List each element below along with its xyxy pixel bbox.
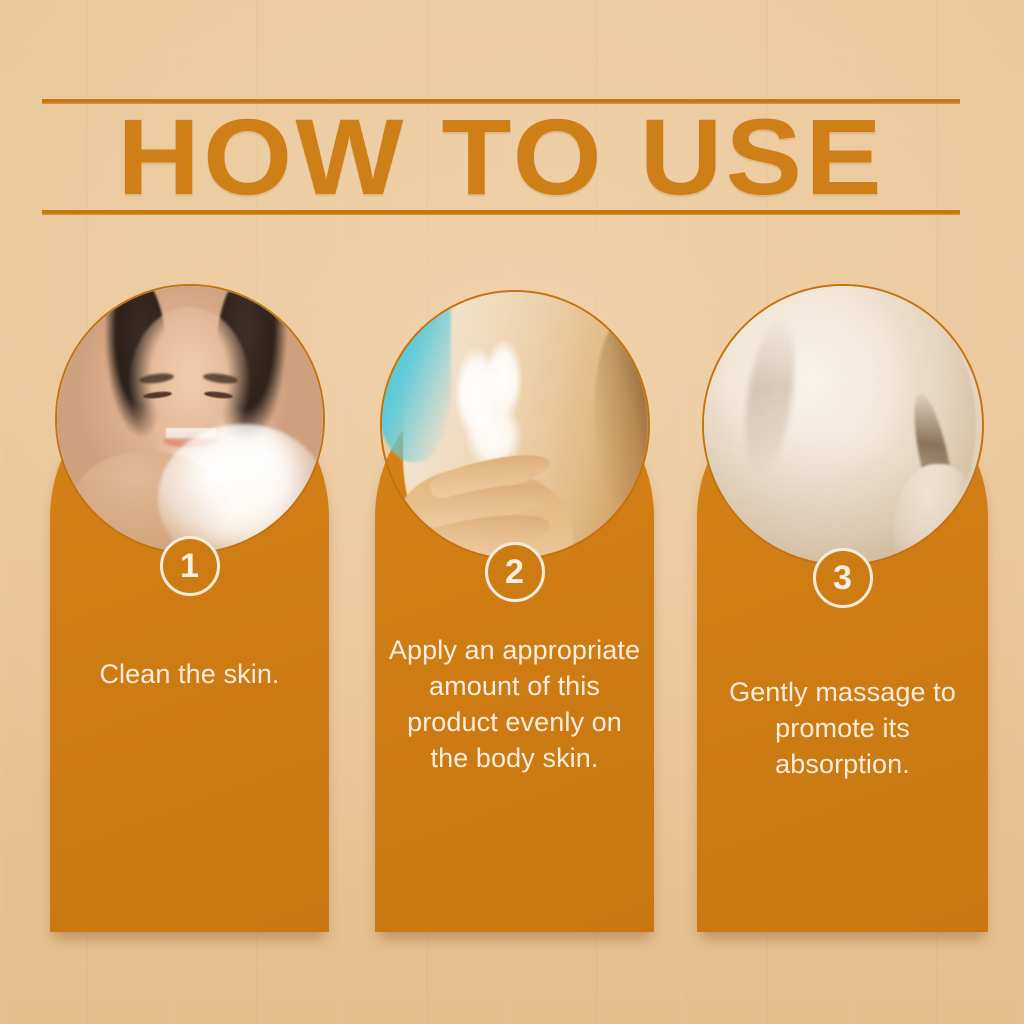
step-photo-3 — [702, 284, 984, 566]
infographic-canvas: HOW TO USE — [0, 0, 1024, 1024]
step-caption-3: Gently massage to promote its absorption… — [697, 674, 988, 782]
foam — [158, 424, 325, 554]
step-caption-1: Clean the skin. — [50, 656, 329, 692]
step-card-2: 2 Apply an appropriate amount of this pr… — [375, 284, 654, 932]
ring — [416, 531, 435, 547]
photo-shower-image — [57, 286, 323, 552]
step-number-badge-3: 3 — [813, 548, 873, 608]
step-photo-1 — [55, 284, 325, 554]
soft-shading — [704, 286, 982, 564]
step-photo-2 — [380, 290, 650, 560]
step-card-1: 1 Clean the skin. — [50, 284, 329, 932]
steps-list: 1 Clean the skin. 2 Apply — [0, 0, 1024, 1024]
cream-smear — [440, 340, 562, 473]
photo-back-skin-image — [704, 286, 982, 564]
step-caption-2: Apply an appropriate amount of this prod… — [375, 632, 654, 776]
photo-apply-cream-image — [382, 292, 648, 558]
shadow-edge — [594, 319, 649, 516]
step-number-badge-2: 2 — [485, 542, 545, 602]
step-number-badge-1: 1 — [160, 536, 220, 596]
step-card-3: 3 Gently massage to promote its absorpti… — [697, 284, 988, 932]
